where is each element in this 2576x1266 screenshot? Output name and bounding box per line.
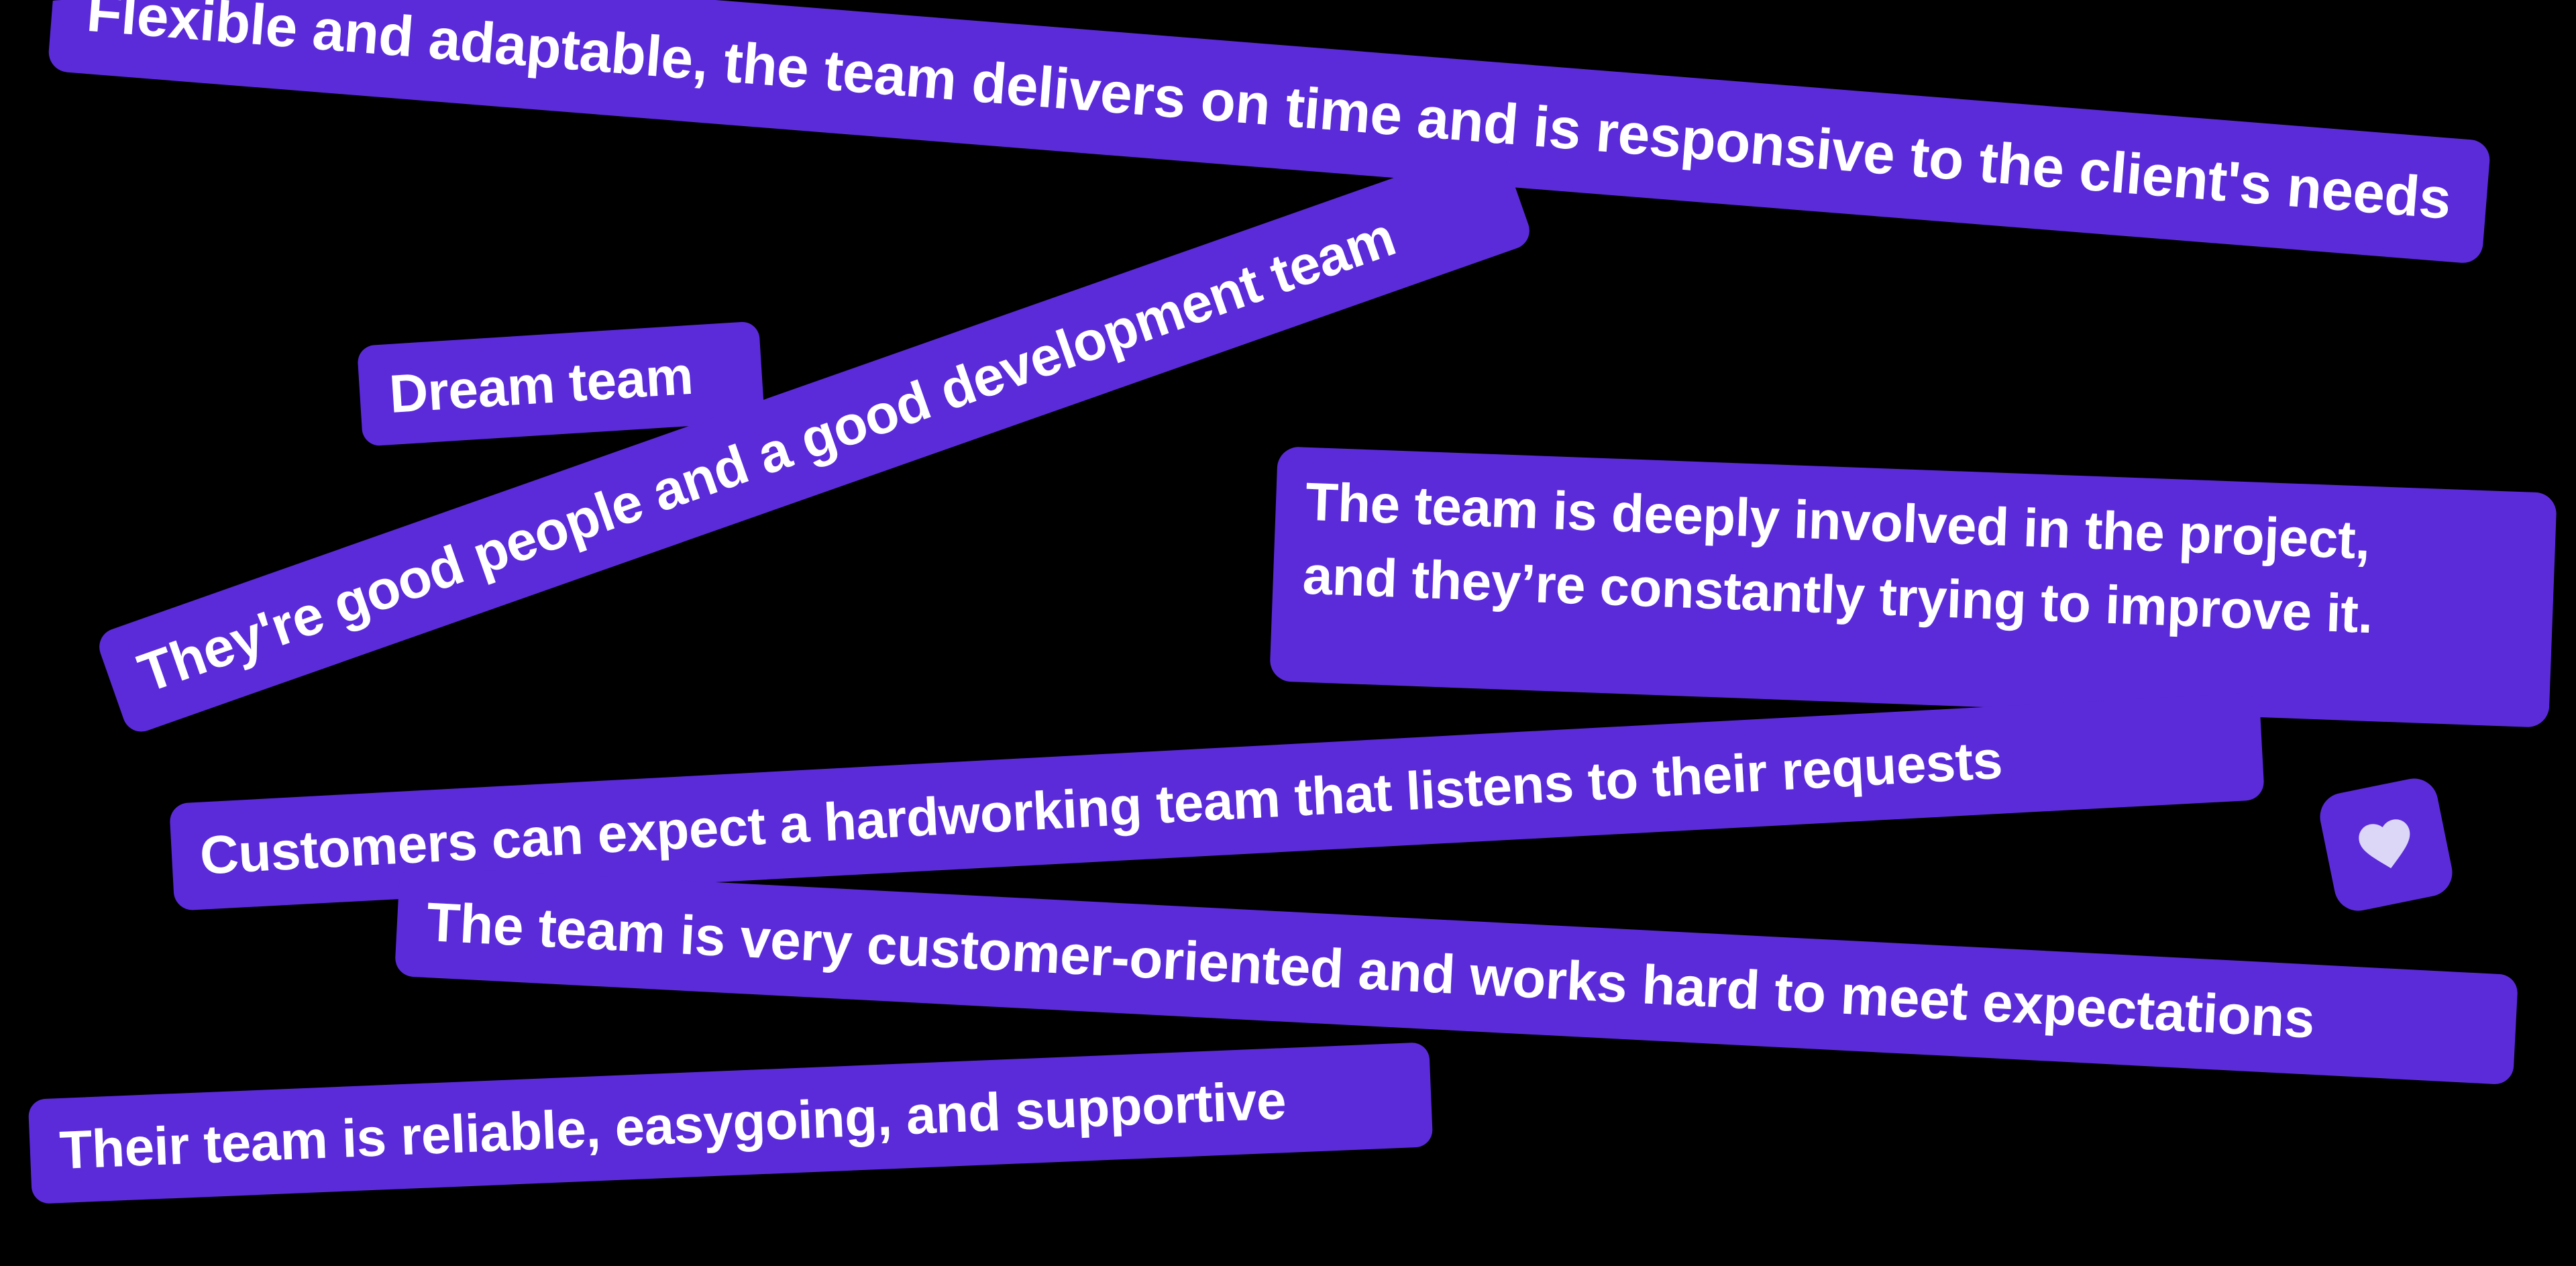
testimonial-pill-reliable[interactable]: Their team is reliable, easygoing, and s… <box>28 1042 1434 1204</box>
testimonial-text: Flexible and adaptable, the team deliver… <box>85 0 2454 229</box>
testimonial-text: Customers can expect a hardworking team … <box>199 721 2235 882</box>
testimonial-pill-customer-oriented[interactable]: The team is very customer-oriented and w… <box>394 866 2518 1086</box>
testimonial-text: Dream team <box>388 346 734 421</box>
testimonial-pill-deeply-involved[interactable]: The team is deeply involved in the proje… <box>1269 446 2557 728</box>
testimonial-text: Their team is reliable, easygoing, and s… <box>58 1069 1403 1177</box>
testimonial-tag-cloud: Flexible and adaptable, the team deliver… <box>0 0 2576 1266</box>
heart-icon <box>2350 808 2422 881</box>
testimonial-text: The team is very customer-oriented and w… <box>425 895 2487 1056</box>
heart-badge[interactable] <box>2316 774 2457 915</box>
